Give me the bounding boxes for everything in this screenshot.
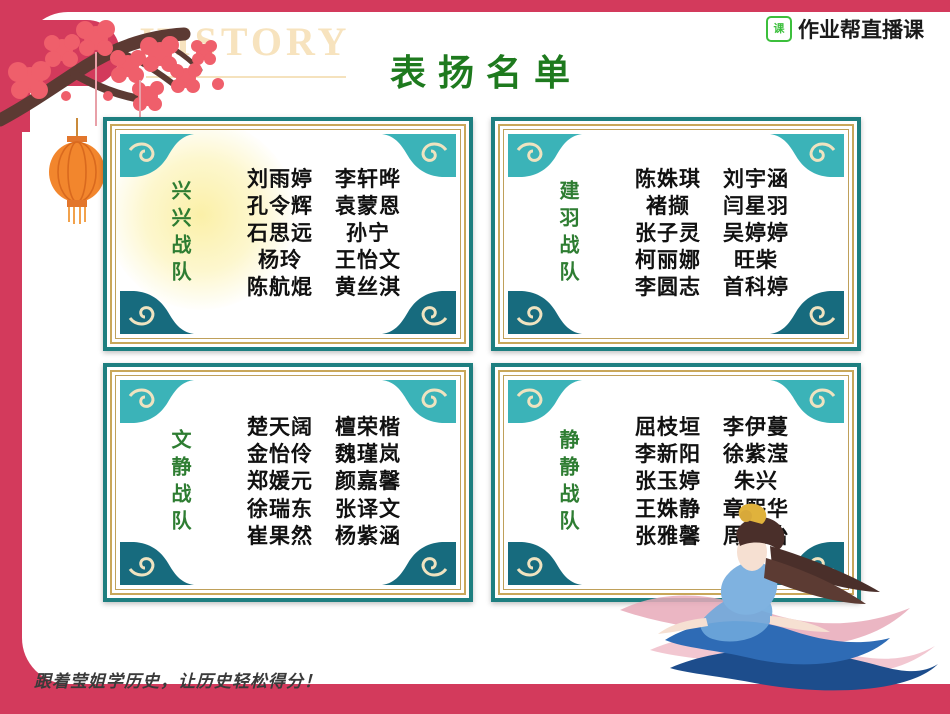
cloud-corner-icon [120,535,194,585]
brand-logo: 课 作业帮直播课 [766,14,924,44]
student-name: 吴婷婷 [723,221,789,247]
student-name: 陈姝琪 [635,167,701,193]
student-name: 李新阳 [635,442,701,468]
history-watermark: HISTORY [140,18,350,65]
slide-root: HISTORY [0,0,950,714]
student-name: 闫星羽 [723,194,789,220]
brand-name: 作业帮直播课 [798,14,924,44]
student-name: 李伊蔓 [723,415,789,441]
student-name: 屈枝垣 [635,415,701,441]
brand-mark-icon: 课 [766,16,792,42]
card-content: 建羽战队 陈姝琪 褚撷 张子灵 柯丽娜 李圆志 刘宇涵 闫星羽 吴婷婷 旺柴 [503,129,849,339]
name-column: 屈枝垣 李新阳 张玉婷 王姝静 张雅馨 [635,415,701,549]
name-list: 楚天阔 金怡伶 郑媛元 徐瑞东 崔果然 檀荣楷 魏瑾岚 颜嘉馨 张译文 杨紫涵 [194,415,460,549]
cloud-corner-icon [120,380,194,430]
student-name: 崔果然 [247,524,313,550]
card-content: 文静战队 楚天阔 金怡伶 郑媛元 徐瑞东 崔果然 檀荣楷 魏瑾岚 颜嘉馨 张译文 [115,375,461,590]
student-name: 杨玲 [247,248,313,274]
card-content: 兴兴战队 刘雨婷 孔令辉 石思远 杨玲 陈航焜 李轩晔 袁蒙恩 孙宁 王怡文 [115,129,461,339]
cloud-corner-icon [508,284,582,334]
student-name: 张译文 [335,497,401,523]
name-list: 陈姝琪 褚撷 张子灵 柯丽娜 李圆志 刘宇涵 闫星羽 吴婷婷 旺柴 首科婷 [582,167,848,301]
student-name: 魏瑾岚 [335,442,401,468]
cloud-corner-icon [120,134,194,184]
student-name: 徐紫滢 [723,442,789,468]
name-column: 陈姝琪 褚撷 张子灵 柯丽娜 李圆志 [635,167,701,301]
name-list: 屈枝垣 李新阳 张玉婷 王姝静 张雅馨 李伊蔓 徐紫滢 朱兴 章熙华 周欣怡 [582,415,848,549]
student-name: 金怡伶 [247,442,313,468]
name-column: 李伊蔓 徐紫滢 朱兴 章熙华 周欣怡 [723,415,789,549]
team-card[interactable]: 静静战队 屈枝垣 李新阳 张玉婷 王姝静 张雅馨 李伊蔓 徐紫滢 朱兴 章熙华 [491,363,861,602]
student-name: 孙宁 [335,221,401,247]
footer-caption: 跟着莹姐学历史，让历史轻松得分！ [34,667,322,692]
student-name: 孔令辉 [247,194,313,220]
student-name: 李圆志 [635,275,701,301]
page-title: 表扬名单 [390,44,582,96]
team-card[interactable]: 兴兴战队 刘雨婷 孔令辉 石思远 杨玲 陈航焜 李轩晔 袁蒙恩 孙宁 王怡文 [103,117,473,351]
student-name: 袁蒙恩 [335,194,401,220]
student-name: 张玉婷 [635,469,701,495]
student-name: 郑媛元 [247,469,313,495]
name-column: 李轩晔 袁蒙恩 孙宁 王怡文 黄丝淇 [335,167,401,301]
name-column: 楚天阔 金怡伶 郑媛元 徐瑞东 崔果然 [247,415,313,549]
student-name: 楚天阔 [247,415,313,441]
student-name: 首科婷 [723,275,789,301]
team-name: 静静战队 [530,429,582,537]
student-name: 李轩晔 [335,167,401,193]
student-name: 陈航焜 [247,275,313,301]
student-name: 黄丝淇 [335,275,401,301]
team-card-grid: 兴兴战队 刘雨婷 孔令辉 石思远 杨玲 陈航焜 李轩晔 袁蒙恩 孙宁 王怡文 [103,117,863,617]
student-name: 刘雨婷 [247,167,313,193]
student-name: 柯丽娜 [635,248,701,274]
card-content: 静静战队 屈枝垣 李新阳 张玉婷 王姝静 张雅馨 李伊蔓 徐紫滢 朱兴 章熙华 [503,375,849,590]
history-underline [146,76,346,78]
team-card[interactable]: 建羽战队 陈姝琪 褚撷 张子灵 柯丽娜 李圆志 刘宇涵 闫星羽 吴婷婷 旺柴 [491,117,861,351]
student-name: 章熙华 [723,497,789,523]
student-name: 张雅馨 [635,524,701,550]
team-name: 建羽战队 [530,180,582,288]
team-name: 兴兴战队 [142,180,194,288]
name-list: 刘雨婷 孔令辉 石思远 杨玲 陈航焜 李轩晔 袁蒙恩 孙宁 王怡文 黄丝淇 [194,167,460,301]
student-name: 颜嘉馨 [335,469,401,495]
student-name: 杨紫涵 [335,524,401,550]
student-name: 张子灵 [635,221,701,247]
team-name: 文静战队 [142,429,194,537]
student-name: 王姝静 [635,497,701,523]
student-name: 褚撷 [635,194,701,220]
student-name: 刘宇涵 [723,167,789,193]
student-name: 石思远 [247,221,313,247]
chinese-lantern-icon [42,118,112,228]
student-name: 旺柴 [723,248,789,274]
student-name: 檀荣楷 [335,415,401,441]
team-card[interactable]: 文静战队 楚天阔 金怡伶 郑媛元 徐瑞东 崔果然 檀荣楷 魏瑾岚 颜嘉馨 张译文 [103,363,473,602]
student-name: 徐瑞东 [247,497,313,523]
student-name: 朱兴 [723,469,789,495]
left-red-notch [0,20,120,86]
cloud-corner-icon [120,284,194,334]
name-column: 刘雨婷 孔令辉 石思远 杨玲 陈航焜 [247,167,313,301]
cloud-corner-icon [508,134,582,184]
name-column: 刘宇涵 闫星羽 吴婷婷 旺柴 首科婷 [723,167,789,301]
student-name: 王怡文 [335,248,401,274]
cloud-corner-icon [508,380,582,430]
cloud-corner-icon [508,535,582,585]
student-name: 周欣怡 [723,524,789,550]
name-column: 檀荣楷 魏瑾岚 颜嘉馨 张译文 杨紫涵 [335,415,401,549]
